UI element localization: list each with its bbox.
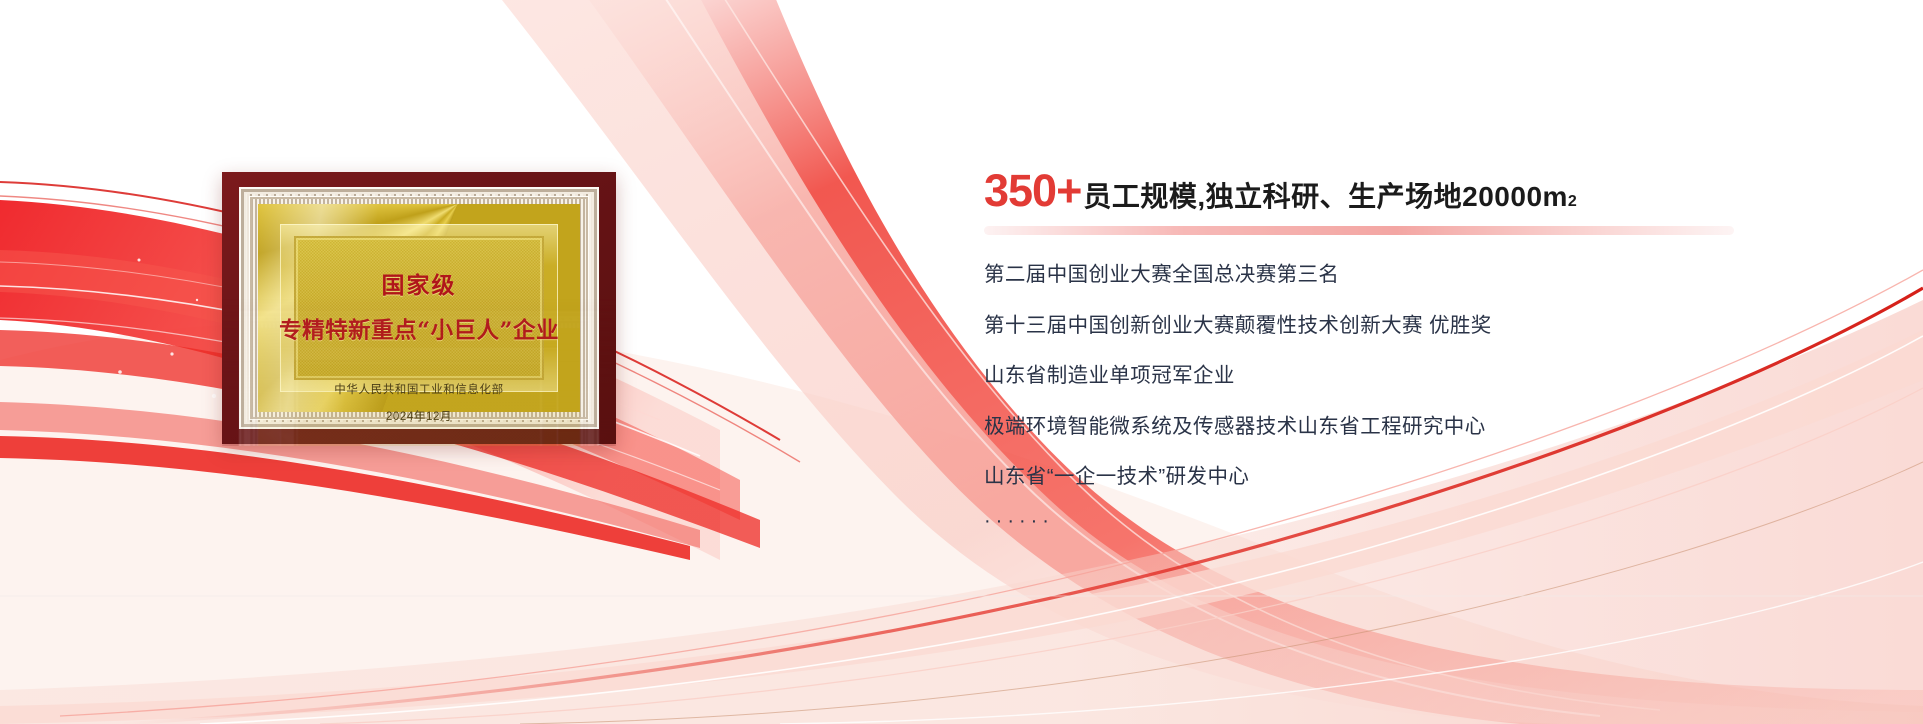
plaque-gold-plate: 国家级 专精特新重点“小巨人”企业 中华人民共和国工业和信息化部 2024年12… <box>258 204 580 412</box>
plaque-frame: 国家级 专精特新重点“小巨人”企业 中华人民共和国工业和信息化部 2024年12… <box>222 172 616 444</box>
plaque-gold-bevel: 国家级 专精特新重点“小巨人”企业 中华人民共和国工业和信息化部 2024年12… <box>280 224 558 392</box>
ellipsis-more-indicator: ······ <box>984 510 1814 533</box>
headline-superscript: 2 <box>1568 193 1577 211</box>
plaque-silver-border-outer: 国家级 专精特新重点“小巨人”企业 中华人民共和国工业和信息化部 2024年12… <box>239 187 599 429</box>
list-item: 山东省制造业单项冠军企业 <box>984 366 1814 387</box>
plaque-silver-border-inner: 国家级 专精特新重点“小巨人”企业 中华人民共和国工业和信息化部 2024年12… <box>249 196 589 420</box>
list-item: 第二届中国创业大赛全国总决赛第三名 <box>984 265 1814 286</box>
award-list: 第二届中国创业大赛全国总决赛第三名 第十三届中国创新创业大赛颠覆性技术创新大赛 … <box>984 265 1814 488</box>
plaque-gold-field: 国家级 专精特新重点“小巨人”企业 中华人民共和国工业和信息化部 2024年12… <box>294 236 544 380</box>
list-item: 第十三届中国创新创业大赛颠覆性技术创新大赛 优胜奖 <box>984 316 1814 337</box>
headline-divider <box>984 226 1734 235</box>
plaque-title: 国家级 <box>382 266 457 300</box>
plaque-subtitle: 专精特新重点“小巨人”企业 <box>279 313 559 345</box>
headline-number: 350+ <box>984 168 1081 213</box>
award-banner: 国家级 专精特新重点“小巨人”企业 中华人民共和国工业和信息化部 2024年12… <box>0 0 1923 724</box>
content-column: 350+ 员工规模,独立科研、生产场地20000m 2 第二届中国创业大赛全国总… <box>984 168 1814 533</box>
headline: 350+ 员工规模,独立科研、生产场地20000m 2 <box>984 168 1814 213</box>
list-item: 极端环境智能微系统及传感器技术山东省工程研究中心 <box>984 417 1814 438</box>
award-plaque: 国家级 专精特新重点“小巨人”企业 中华人民共和国工业和信息化部 2024年12… <box>222 172 616 444</box>
plaque-date: 2024年12月 <box>386 408 452 424</box>
plaque-issuer: 中华人民共和国工业和信息化部 <box>334 381 503 397</box>
headline-text: 员工规模,独立科研、生产场地20000m <box>1083 183 1568 211</box>
list-item: 山东省“一企一技术”研发中心 <box>984 467 1814 488</box>
